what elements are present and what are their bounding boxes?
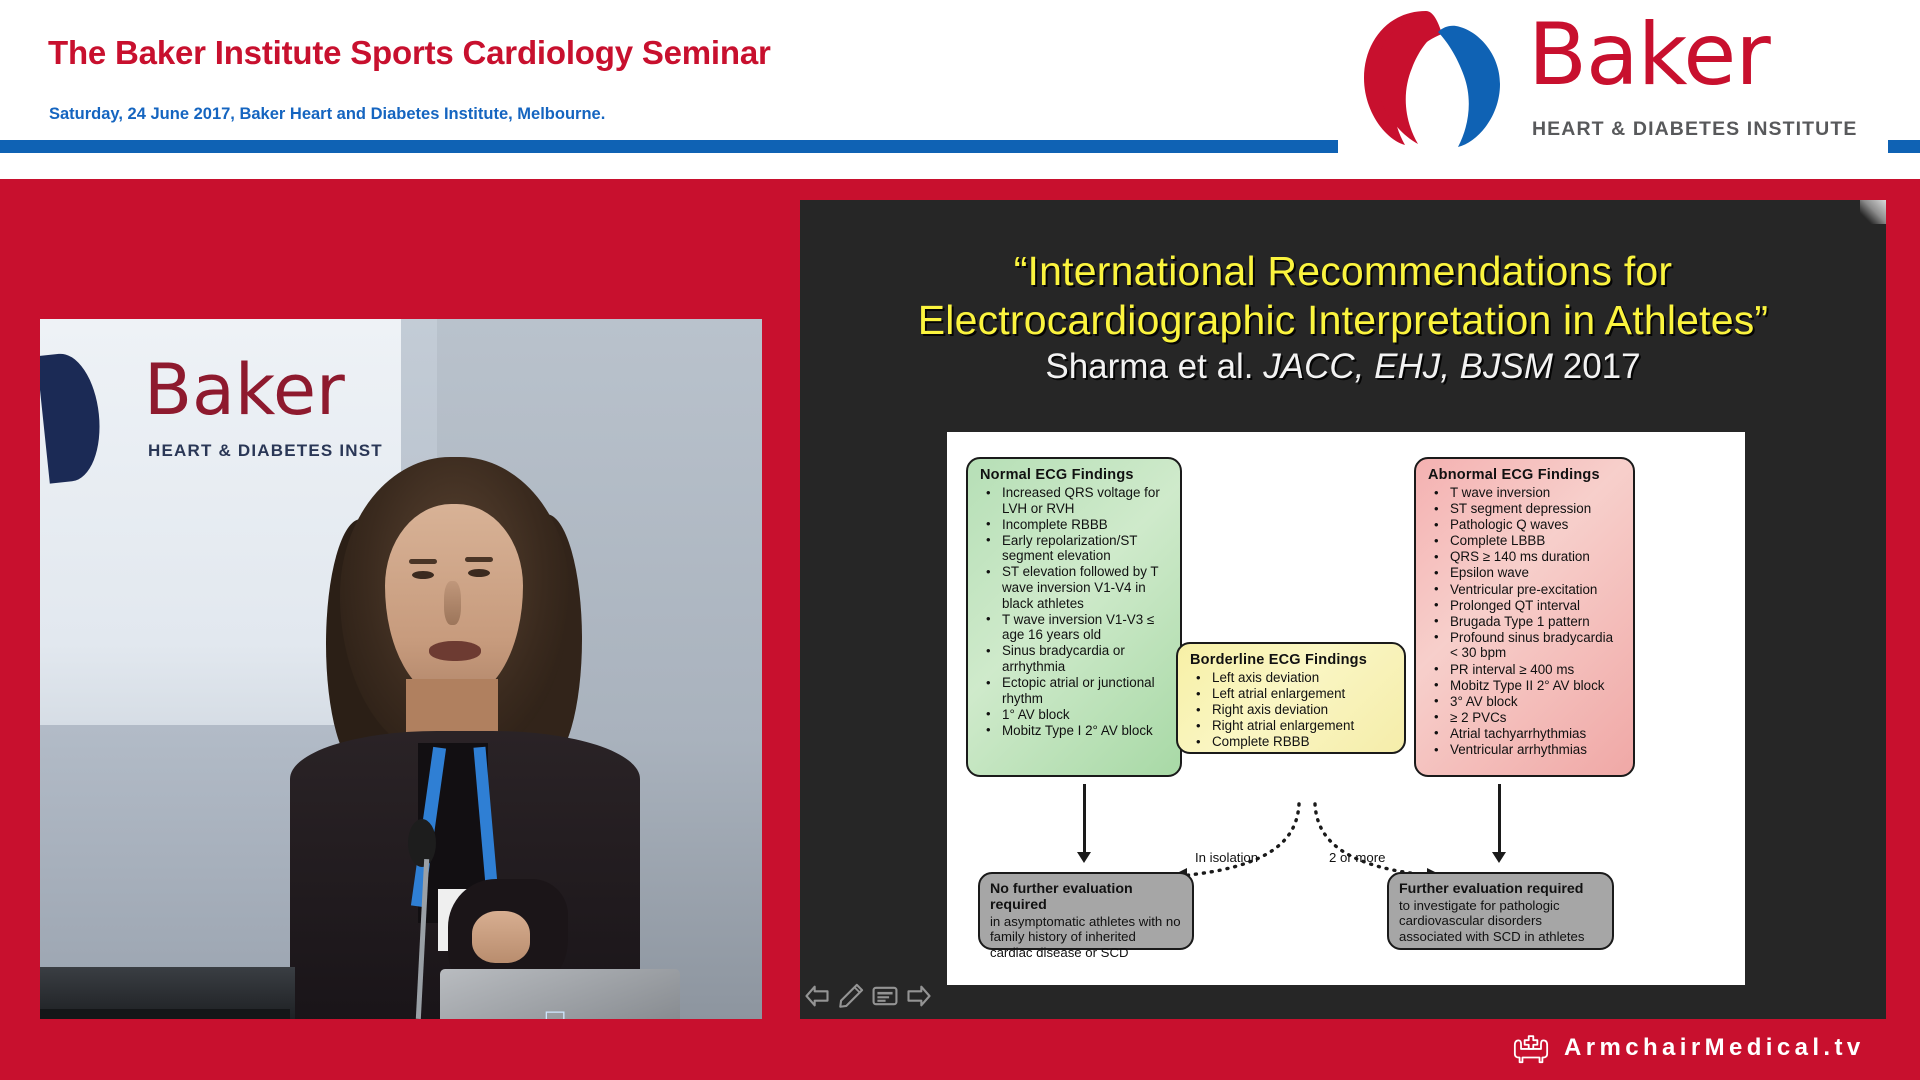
list-item: Ectopic atrial or junctional rhythm xyxy=(978,675,1170,706)
baker-institute-logo: Baker HEART & DIABETES INSTITUTE xyxy=(1360,6,1880,156)
list-item: PR interval ≥ 400 ms xyxy=(1426,662,1623,678)
page-title: The Baker Institute Sports Cardiology Se… xyxy=(48,34,771,72)
list-item: Profound sinus bradycardia < 30 bpm xyxy=(1426,630,1623,661)
list-item: Pathologic Q waves xyxy=(1426,517,1623,533)
arrow-head-right xyxy=(1492,852,1506,863)
speaker-brow-left xyxy=(409,559,437,564)
list-item: Complete RBBB xyxy=(1188,734,1394,750)
previous-slide-icon[interactable] xyxy=(803,982,831,1010)
list-item: Mobitz Type I 2° AV block xyxy=(978,723,1170,739)
next-slide-icon[interactable] xyxy=(905,982,933,1010)
baker-heart-icon xyxy=(1360,8,1520,148)
list-item: T wave inversion xyxy=(1426,485,1623,501)
list-item: Right axis deviation xyxy=(1188,702,1394,718)
borderline-findings-title: Borderline ECG Findings xyxy=(1190,652,1394,668)
logo-tagline: HEART & DIABETES INSTITUTE xyxy=(1532,118,1857,141)
list-item: Complete LBBB xyxy=(1426,533,1623,549)
annotate-pen-icon[interactable] xyxy=(837,982,865,1010)
slide-title-line1: “International Recommendations for xyxy=(800,248,1886,295)
ecg-criteria-diagram: Normal ECG Findings Increased QRS voltag… xyxy=(947,432,1745,985)
further-evaluation-body: to investigate for pathologic cardiovasc… xyxy=(1399,898,1602,944)
armchair-cross-icon xyxy=(1512,1029,1550,1067)
slideshow-controls[interactable] xyxy=(795,975,955,1017)
branch-label-in-isolation: In isolation xyxy=(1195,850,1258,865)
list-item: T wave inversion V1-V3 ≤ age 16 years ol… xyxy=(978,612,1170,643)
list-item: 3° AV block xyxy=(1426,694,1623,710)
normal-findings-list: Increased QRS voltage for LVH or RVH Inc… xyxy=(978,485,1170,739)
borderline-findings-box: Borderline ECG Findings Left axis deviat… xyxy=(1176,642,1406,754)
speaker-nose xyxy=(444,581,461,625)
branch-label-two-or-more: 2 or more xyxy=(1329,850,1385,865)
list-item: Atrial tachyarrhythmias xyxy=(1426,726,1623,742)
normal-findings-box: Normal ECG Findings Increased QRS voltag… xyxy=(966,457,1182,777)
header-rule-left xyxy=(0,140,1338,153)
list-item: Mobitz Type II 2° AV block xyxy=(1426,678,1623,694)
list-item: Brugada Type 1 pattern xyxy=(1426,614,1623,630)
list-item: Ventricular pre-excitation xyxy=(1426,582,1623,598)
list-item: ≥ 2 PVCs xyxy=(1426,710,1623,726)
borderline-findings-list: Left axis deviation Left atrial enlargem… xyxy=(1188,670,1394,750)
speaker-mouth xyxy=(429,641,481,661)
arrow-normal-to-outcome xyxy=(1083,784,1086,856)
microphone-head xyxy=(408,819,436,867)
further-evaluation-title: Further evaluation required xyxy=(1399,881,1602,897)
list-item: Incomplete RBBB xyxy=(978,517,1170,533)
list-item: Prolonged QT interval xyxy=(1426,598,1623,614)
citation-year: 2017 xyxy=(1553,347,1641,386)
no-further-evaluation-box: No further evaluation required in asympt… xyxy=(978,872,1194,950)
citation-journals: JACC, EHJ, BJSM xyxy=(1263,347,1553,386)
list-item: Sinus bradycardia or arrhythmia xyxy=(978,643,1170,674)
logo-wordmark: Baker xyxy=(1528,12,1770,98)
confidence-monitor-body xyxy=(40,1009,290,1019)
speaker-video[interactable]: Baker HEART & DIABETES INST  xyxy=(40,319,762,1019)
list-item: Epsilon wave xyxy=(1426,565,1623,581)
apple-logo-icon:  xyxy=(540,1009,570,1019)
armchair-medical-logo[interactable]: ArmchairMedical.tv xyxy=(1512,1026,1865,1070)
citation-prefix: Sharma et al. xyxy=(1045,347,1263,386)
further-evaluation-box: Further evaluation required to investiga… xyxy=(1387,872,1614,950)
normal-findings-title: Normal ECG Findings xyxy=(980,467,1170,483)
banner-wordmark: Baker xyxy=(144,355,345,425)
list-item: Increased QRS voltage for LVH or RVH xyxy=(978,485,1170,516)
screen: The Baker Institute Sports Cardiology Se… xyxy=(0,0,1920,1080)
list-item: Left axis deviation xyxy=(1188,670,1394,686)
speaker-brow-right xyxy=(465,557,493,562)
slide-menu-icon[interactable] xyxy=(871,982,899,1010)
no-further-evaluation-body: in asymptomatic athletes with no family … xyxy=(990,914,1182,960)
list-item: Left atrial enlargement xyxy=(1188,686,1394,702)
abnormal-findings-title: Abnormal ECG Findings xyxy=(1428,467,1623,483)
slide-title-line2: Electrocardiographic Interpretation in A… xyxy=(800,297,1886,344)
list-item: 1° AV block xyxy=(978,707,1170,723)
slide-corner-fold xyxy=(1860,200,1886,224)
arrow-head-left xyxy=(1077,852,1091,863)
list-item: ST segment depression xyxy=(1426,501,1623,517)
header-rule-right xyxy=(1888,140,1920,153)
banner-tagline: HEART & DIABETES INST xyxy=(148,441,383,461)
list-item: Early repolarization/ST segment elevatio… xyxy=(978,533,1170,564)
slide-citation: Sharma et al. JACC, EHJ, BJSM 2017 xyxy=(800,347,1886,387)
list-item: QRS ≥ 140 ms duration xyxy=(1426,549,1623,565)
abnormal-findings-box: Abnormal ECG Findings T wave inversion S… xyxy=(1414,457,1635,777)
speaker-eye-right xyxy=(468,569,490,577)
list-item: Ventricular arrhythmias xyxy=(1426,742,1623,758)
arrow-abnormal-to-outcome xyxy=(1498,784,1501,856)
presentation-slide[interactable]: “International Recommendations for Elect… xyxy=(800,200,1886,1019)
list-item: Right atrial enlargement xyxy=(1188,718,1394,734)
list-item: ST elevation followed by T wave inversio… xyxy=(978,564,1170,611)
speaker-eye-left xyxy=(412,571,434,579)
no-further-evaluation-title: No further evaluation required xyxy=(990,881,1182,913)
speaker-hand-right xyxy=(472,911,530,963)
page-subtitle: Saturday, 24 June 2017, Baker Heart and … xyxy=(49,105,605,124)
abnormal-findings-list: T wave inversion ST segment depression P… xyxy=(1426,485,1623,758)
page-header: The Baker Institute Sports Cardiology Se… xyxy=(0,0,1920,180)
armchair-medical-wordmark: ArmchairMedical.tv xyxy=(1564,1034,1865,1062)
